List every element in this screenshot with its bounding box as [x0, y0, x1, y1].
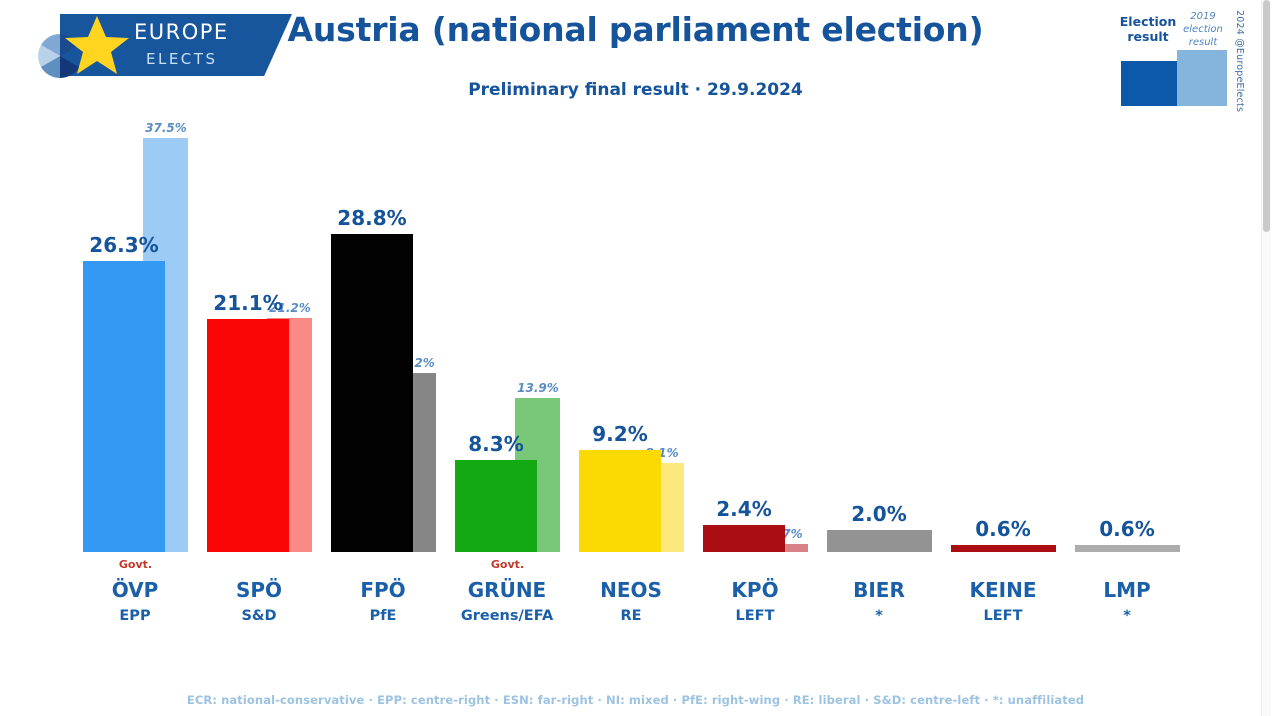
bar-current-value-label: 8.3%	[452, 432, 540, 456]
bar-current-value-label: 21.1%	[204, 291, 292, 315]
party-eu-group-label: LEFT	[685, 608, 825, 624]
party-eu-group-label: LEFT	[933, 608, 1073, 624]
header: EUROPE ELECTS Austria (national parliame…	[0, 0, 1271, 118]
bar-current-value-label: 2.4%	[700, 497, 788, 521]
bar-current-value-label: 2.0%	[833, 502, 925, 526]
logo-text-elects: ELECTS	[146, 50, 217, 68]
bar-current-value-label: 0.6%	[1081, 517, 1173, 541]
legend-swatch-current	[1121, 61, 1177, 106]
party-name-label: KEINE	[933, 578, 1073, 602]
bar-previous-value-label: 13.9%	[512, 381, 564, 395]
copyright-text: 2024 @EuropeElects	[1229, 10, 1245, 110]
bar-chart: 37.5%26.3%Govt.ÖVPEPP21.2%21.1%SPÖS&D16.…	[0, 118, 1271, 678]
party-eu-group-label: PfE	[313, 608, 453, 624]
party-eu-group-label: Greens/EFA	[437, 608, 577, 624]
party-eu-group-label: *	[1057, 608, 1197, 624]
legend-label-current: Election result	[1117, 14, 1179, 44]
legend-label-previous: 2019 election result	[1179, 10, 1227, 49]
bar-current-value-label: 28.8%	[328, 206, 416, 230]
bar-current-result	[827, 530, 932, 552]
govt-badge: Govt.	[455, 558, 560, 571]
page-title: Austria (national parliament election)	[0, 10, 1271, 49]
party-eu-group-label: RE	[561, 608, 701, 624]
legend: Election result 2019 election result 202…	[1117, 6, 1249, 110]
bar-current-value-label: 9.2%	[576, 422, 664, 446]
bar-current-result	[579, 450, 661, 552]
party-name-label: LMP	[1057, 578, 1197, 602]
bar-current-result	[951, 545, 1056, 552]
party-eu-group-label: EPP	[65, 608, 205, 624]
bar-previous-value-label: 37.5%	[140, 121, 192, 135]
party-name-label: ÖVP	[65, 578, 205, 602]
party-name-label: FPÖ	[313, 578, 453, 602]
bar-current-result	[207, 319, 289, 552]
govt-badge: Govt.	[83, 558, 188, 571]
bar-current-value-label: 26.3%	[80, 233, 168, 257]
footer-note: ECR: national-conservative · EPP: centre…	[0, 693, 1271, 707]
bar-current-value-label: 0.6%	[957, 517, 1049, 541]
party-name-label: BIER	[809, 578, 949, 602]
bar-current-result	[83, 261, 165, 552]
bar-current-result	[331, 234, 413, 552]
page-scrollbar-thumb[interactable]	[1263, 0, 1270, 232]
election-chart-page: EUROPE ELECTS Austria (national parliame…	[0, 0, 1271, 716]
party-name-label: SPÖ	[189, 578, 329, 602]
party-name-label: KPÖ	[685, 578, 825, 602]
page-subtitle: Preliminary final result · 29.9.2024	[0, 80, 1271, 100]
party-name-label: NEOS	[561, 578, 701, 602]
legend-swatch-previous	[1177, 50, 1227, 106]
bar-current-result	[703, 525, 785, 552]
party-name-label: GRÜNE	[437, 578, 577, 602]
bar-current-result	[455, 460, 537, 552]
party-eu-group-label: *	[809, 608, 949, 624]
party-eu-group-label: S&D	[189, 608, 329, 624]
bar-current-result	[1075, 545, 1180, 552]
page-scrollbar[interactable]	[1261, 0, 1271, 716]
